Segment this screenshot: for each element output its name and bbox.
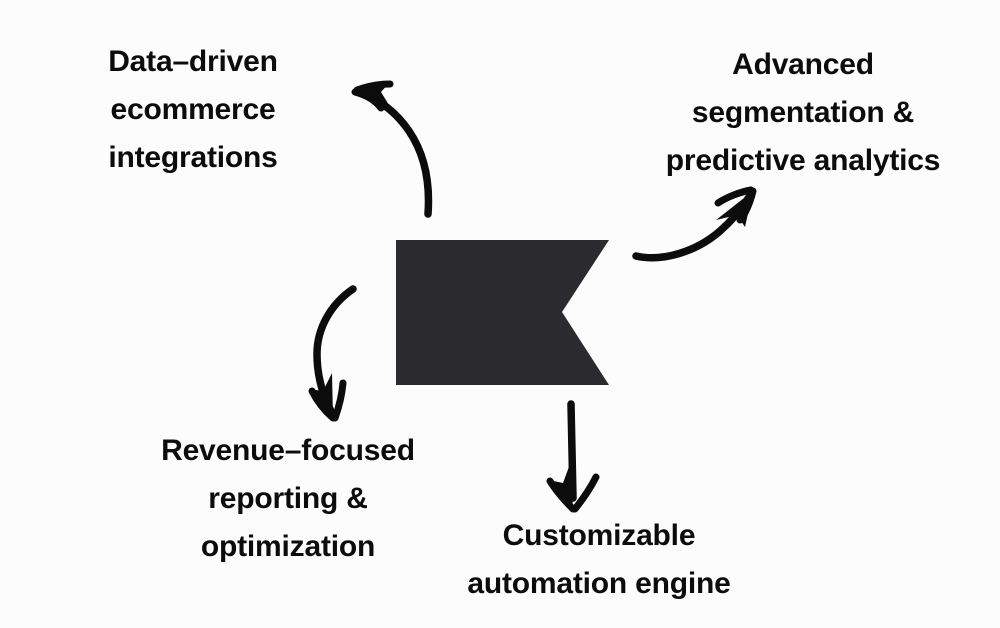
callout-label-data-driven-ecommerce-integrations: Data–driven ecommerce integrations [32,38,354,182]
connector-arrow-top-left [355,82,428,214]
flag-banner-shape [396,240,609,385]
arrow-shaft [636,197,749,258]
connector-arrow-bottom-left [309,289,353,418]
arrowhead-barb-right [335,383,343,418]
callout-label-advanced-segmentation-predictive-analytics: Advanced segmentation & predictive analy… [628,41,978,185]
callout-label-customizable-automation-engine: Customizable automation engine [428,512,770,608]
diagram-canvas: Data–driven ecommerce integrations Advan… [0,0,1000,628]
callout-label-revenue-focused-reporting-optimization: Revenue–focused reporting & optimization [128,427,448,571]
connector-arrow-top-right [636,190,753,258]
arrowhead-barb-right [575,477,596,509]
flag-banner-icon [396,240,609,385]
connector-arrow-bottom-center [549,404,596,509]
arrow-shaft [366,95,428,214]
